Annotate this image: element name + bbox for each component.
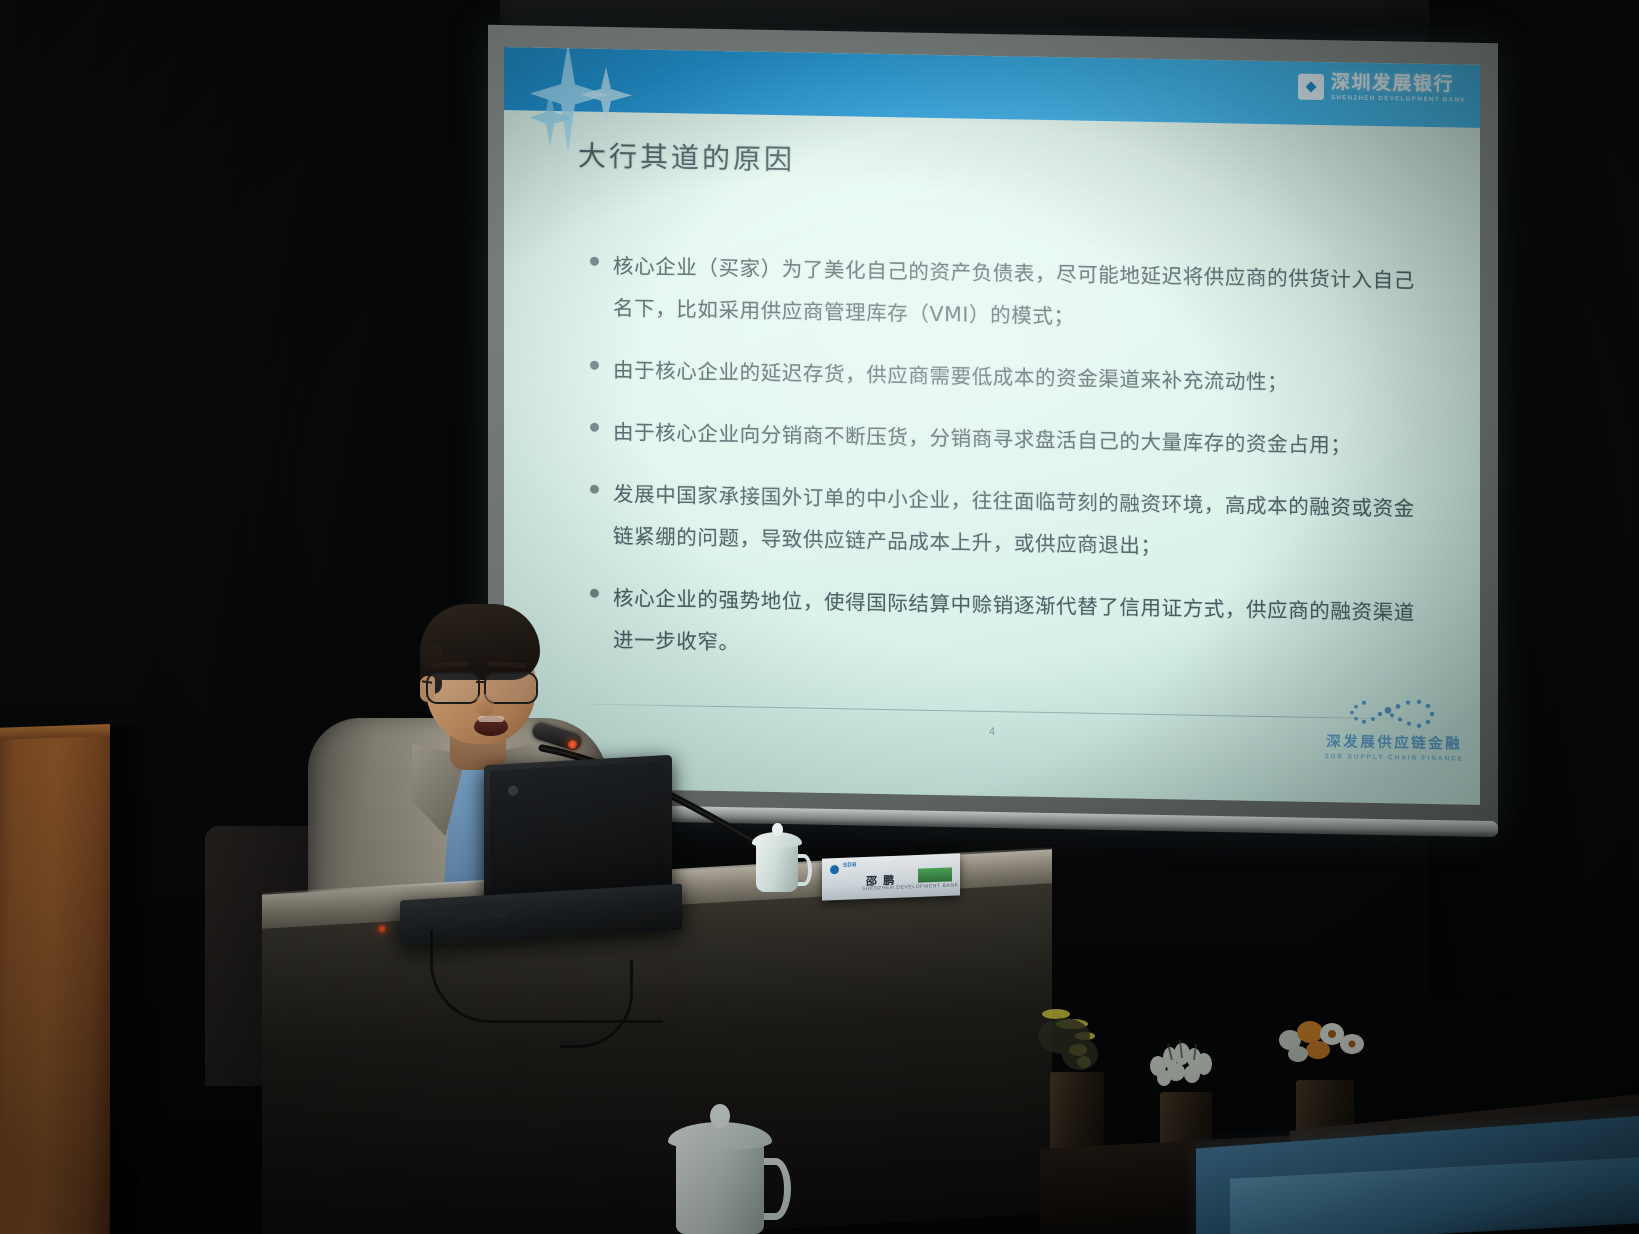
- presentation-photo-scene: 深圳发展银行 SHENZHEN DEVELOPMENT BANK 大行其道的原因…: [0, 0, 1639, 1234]
- teacup-foreground: [668, 1092, 780, 1234]
- bullet-dot-icon: [590, 257, 599, 266]
- list-item: 由于核心企业向分销商不断压货，分销商寻求盘活自己的大量库存的资金占用；: [590, 411, 1428, 468]
- teacup-body: [756, 842, 798, 892]
- presenter-nose: [476, 694, 494, 716]
- bullet-text: 核心企业的强势地位，使得国际结算中赊销逐渐代替了信用证方式，供应商的融资渠道进一…: [613, 577, 1428, 676]
- bullet-dot-icon: [590, 485, 599, 494]
- bullet-text: 由于核心企业向分销商不断压货，分销商寻求盘活自己的大量库存的资金占用；: [613, 411, 1352, 467]
- slide-header-banner: 深圳发展银行 SHENZHEN DEVELOPMENT BANK: [504, 47, 1480, 128]
- teacup-handle: [760, 1158, 791, 1220]
- glasses-lens-left: [426, 672, 480, 704]
- projection-screen: 深圳发展银行 SHENZHEN DEVELOPMENT BANK 大行其道的原因…: [504, 47, 1480, 805]
- laptop-power-led-icon: [378, 925, 386, 933]
- slide-title: 大行其道的原因: [578, 134, 795, 178]
- list-item: 由于核心企业的延迟存货，供应商需要低成本的资金渠道来补充流动性；: [590, 349, 1428, 406]
- footer-logo-cn: 深发展供应链金融: [1324, 730, 1464, 754]
- bank-logo: 深圳发展银行 SHENZHEN DEVELOPMENT BANK: [1298, 73, 1466, 104]
- list-item: 发展中国家承接国外订单的中小企业，往往面临苛刻的融资环境，高成本的融资或资金链紧…: [590, 473, 1428, 572]
- laptop-touchpad[interactable]: [455, 901, 507, 920]
- bullet-dot-icon: [590, 423, 599, 432]
- teacup-handle: [796, 854, 812, 886]
- bullet-text: 核心企业（买家）为了美化自己的资产负债表，尽可能地延迟将供应商的供货计入自己名下…: [613, 245, 1428, 344]
- bullet-dot-icon: [590, 361, 599, 370]
- bank-logo-mark-icon: [1298, 74, 1324, 100]
- bank-logo-en: SHENZHEN DEVELOPMENT BANK: [1331, 95, 1466, 104]
- wooden-podium: [0, 731, 110, 1234]
- placard-logo-icon: [830, 865, 839, 874]
- bullet-text: 发展中国家承接国外订单的中小企业，往往面临苛刻的融资环境，高成本的融资或资金链紧…: [613, 473, 1428, 572]
- slide-footer-divider: [564, 703, 1420, 720]
- infinity-loop-icon: [1330, 694, 1458, 730]
- microphone-led-icon: [568, 740, 577, 749]
- teacup-knob: [710, 1104, 730, 1128]
- list-item: 核心企业的强势地位，使得国际结算中赊销逐渐代替了信用证方式，供应商的融资渠道进一…: [590, 577, 1428, 676]
- presenter-teeth: [478, 716, 504, 722]
- bullet-text: 由于核心企业的延迟存货，供应商需要低成本的资金渠道来补充流动性；: [613, 349, 1288, 403]
- placard-brand: SDB: [843, 862, 857, 869]
- glasses-bridge: [476, 681, 486, 683]
- slide: 深圳发展银行 SHENZHEN DEVELOPMENT BANK 大行其道的原因…: [504, 47, 1480, 805]
- slide-page-number: 4: [989, 726, 995, 738]
- slide-bullet-list: 核心企业（买家）为了美化自己的资产负债表，尽可能地延迟将供应商的供货计入自己名下…: [590, 245, 1428, 696]
- teacup-body: [676, 1140, 764, 1234]
- flower-arrangement-orange: [1272, 1010, 1384, 1101]
- flower-arrangement-yellow: [1028, 1000, 1138, 1095]
- glasses-temple: [422, 680, 432, 684]
- teacup-knob: [772, 823, 783, 836]
- podium-shadow: [100, 726, 170, 1234]
- bank-logo-cn: 深圳发展银行: [1331, 73, 1466, 94]
- placard-green-tab: [918, 867, 952, 882]
- supply-chain-finance-logo: 深发展供应链金融 SDB SUPPLY CHAIN FINANCE: [1324, 694, 1464, 763]
- projection-screen-frame: 深圳发展银行 SHENZHEN DEVELOPMENT BANK 大行其道的原因…: [488, 25, 1498, 834]
- flower-arrangement-white: [1140, 1032, 1240, 1117]
- list-item: 核心企业（买家）为了美化自己的资产负债表，尽可能地延迟将供应商的供货计入自己名下…: [590, 245, 1428, 344]
- footer-logo-en: SDB SUPPLY CHAIN FINANCE: [1324, 753, 1464, 763]
- teacup-on-desk: [752, 816, 804, 892]
- bullet-dot-icon: [590, 589, 599, 598]
